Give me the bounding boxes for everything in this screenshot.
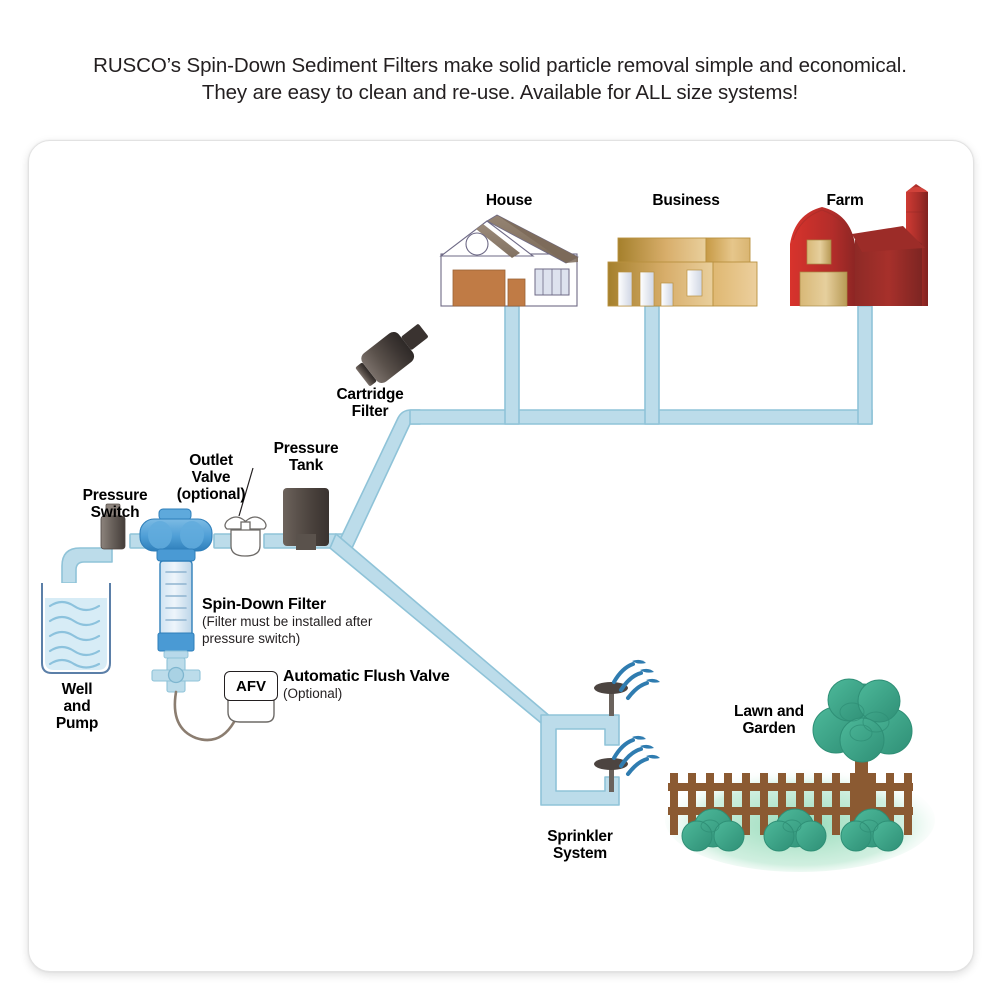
- pipe-branch-upper: [336, 410, 420, 548]
- label-house: House: [445, 192, 573, 209]
- diagram-page: RUSCO’s Spin-Down Sediment Filters make …: [0, 0, 1000, 1000]
- garden-bushes: [682, 809, 903, 851]
- note-spin-down-filter: (Filter must be installed after pressure…: [202, 614, 432, 647]
- label-cartridge-filter: Cartridge Filter: [322, 386, 418, 420]
- label-spin-down-filter: Spin-Down Filter: [202, 596, 432, 613]
- pipe-drop-business: [645, 306, 659, 424]
- label-business: Business: [618, 192, 754, 209]
- note-automatic-flush-valve: (Optional): [283, 686, 483, 703]
- afv-badge: AFV: [224, 671, 278, 701]
- label-outlet-valve: Outlet Valve (optional): [163, 452, 259, 503]
- label-well-and-pump: Well and Pump: [36, 681, 118, 732]
- pipe-header-horizontal: [410, 410, 872, 424]
- cartridge-filter-illustration: [351, 316, 434, 392]
- tree-canopy: [813, 679, 912, 762]
- pressure-tank-illustration: [283, 488, 329, 550]
- label-pressure-switch: Pressure Switch: [62, 487, 168, 521]
- pipe-well-to-switch: [62, 548, 112, 583]
- label-lawn-and-garden: Lawn and Garden: [713, 703, 825, 737]
- business-illustration: [608, 238, 757, 306]
- label-pressure-tank: Pressure Tank: [257, 440, 355, 474]
- pipe-drop-farm: [858, 306, 872, 424]
- well-and-pump-illustration: [42, 583, 110, 673]
- pipe-drop-house: [505, 306, 519, 424]
- label-farm: Farm: [790, 192, 900, 209]
- house-illustration: [441, 215, 578, 306]
- label-sprinkler-system: Sprinkler System: [530, 828, 630, 862]
- label-automatic-flush-valve: Automatic Flush Valve: [283, 668, 503, 685]
